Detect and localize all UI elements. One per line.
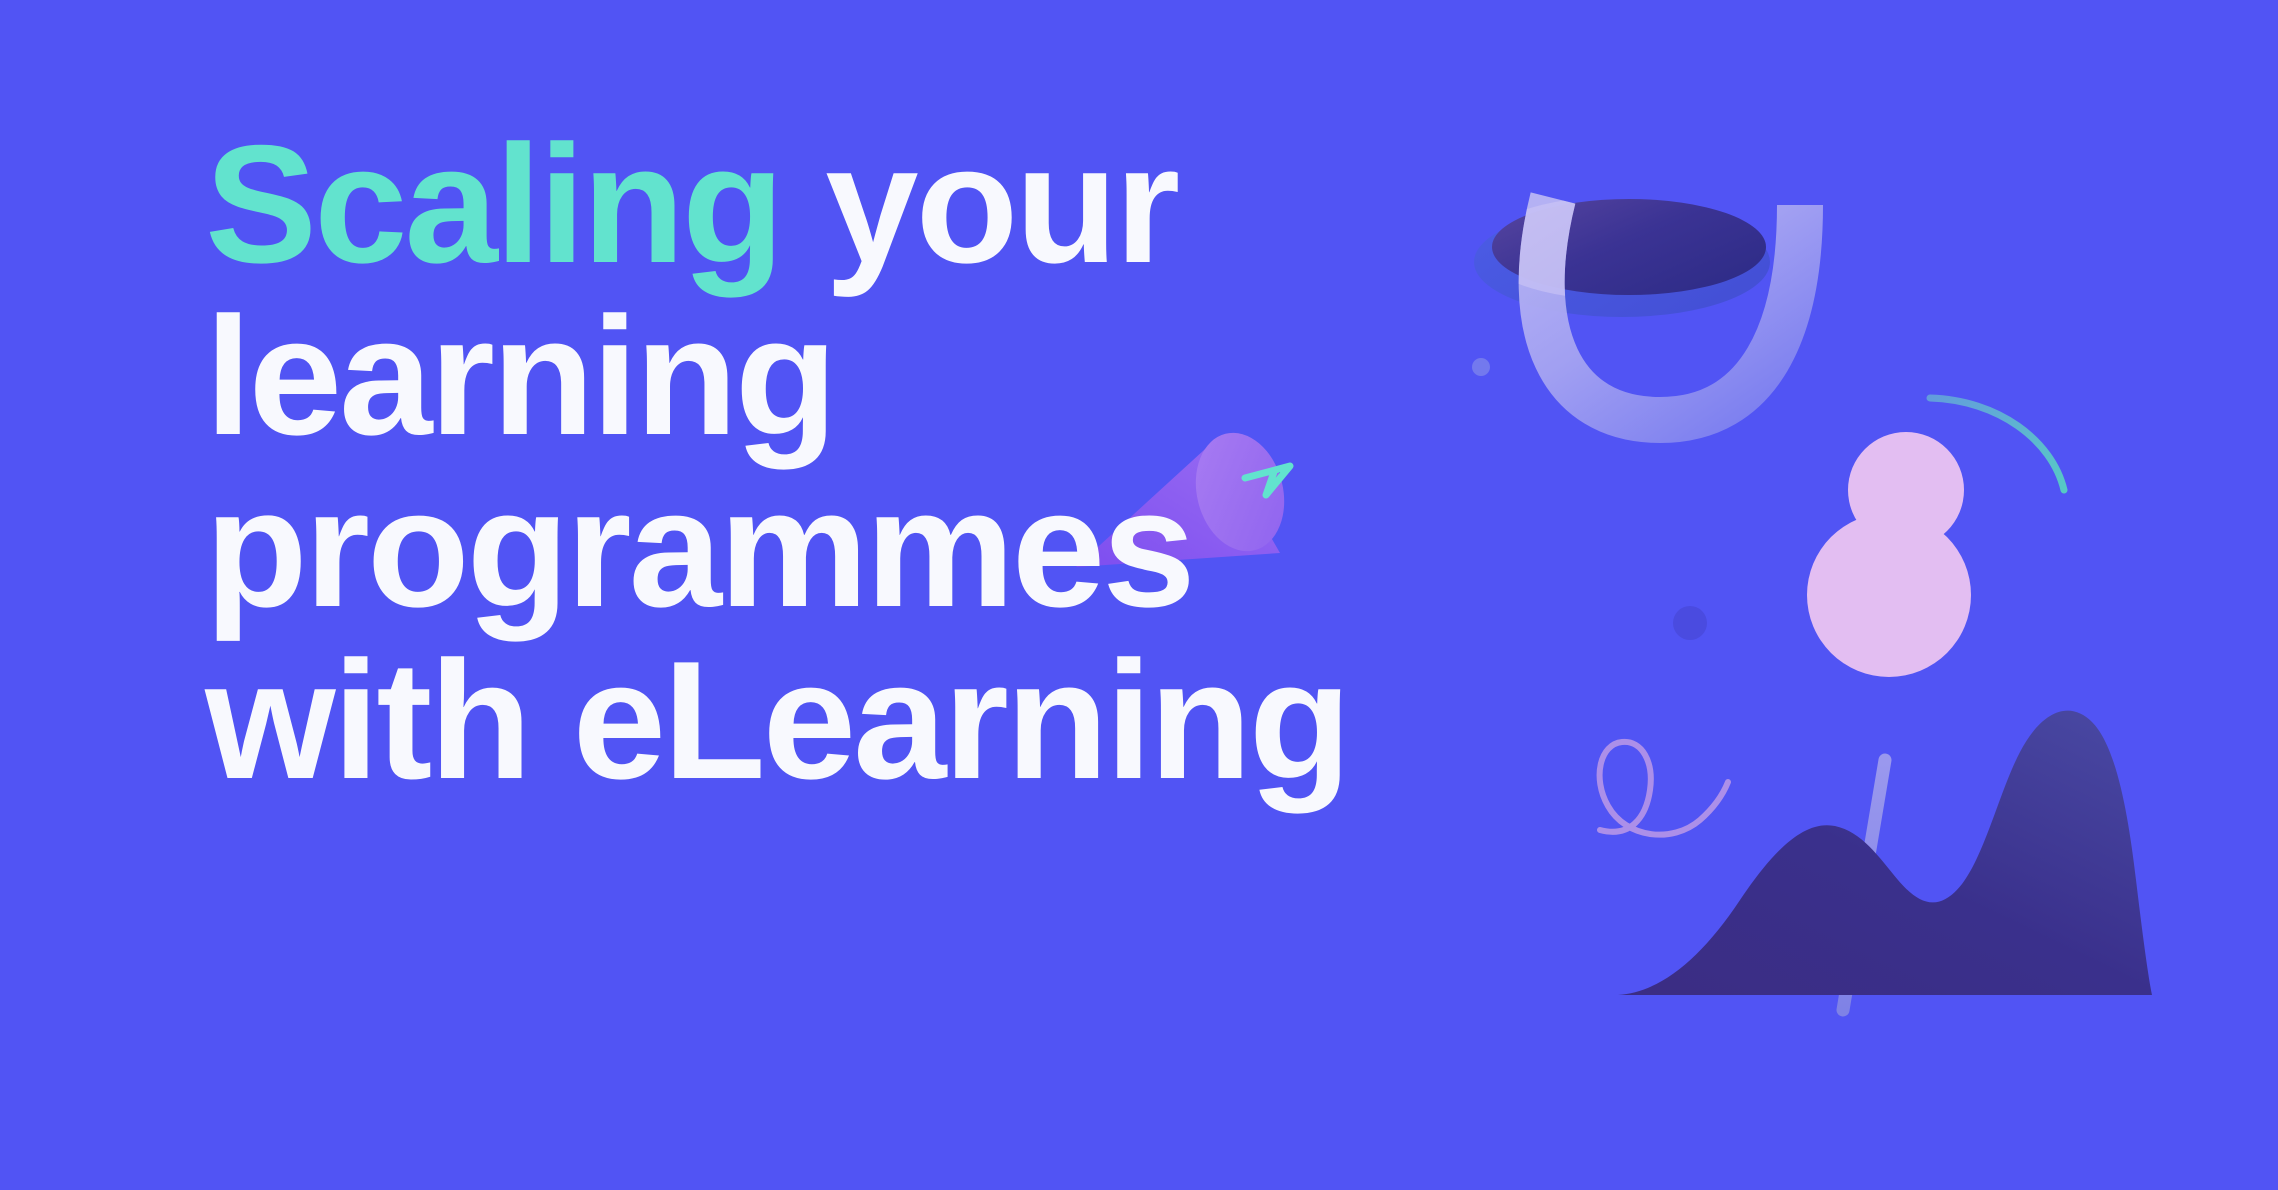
small-dot-dark-icon — [1673, 606, 1707, 640]
teal-arc-icon — [1930, 398, 2064, 490]
lollipop-flower-icon — [1807, 432, 1971, 1010]
page-title: Scaling your learning programmes with eL… — [205, 118, 1505, 806]
headline-line-1-rest: your — [782, 110, 1178, 298]
headline-line-3: programmes — [205, 462, 1505, 634]
hill-icon — [1618, 711, 2152, 995]
floating-disc-icon — [1474, 199, 1770, 317]
loop-squiggle-icon — [1600, 742, 1728, 835]
headline-line-2: learning — [205, 290, 1505, 462]
headline-line-1: Scaling your — [205, 118, 1505, 290]
banner-hero: Scaling your learning programmes with eL… — [0, 0, 2278, 1190]
headline-line-4: with eLearning — [205, 634, 1505, 806]
u-arc-icon — [1542, 198, 1800, 420]
headline-accent-word: Scaling — [205, 110, 782, 298]
